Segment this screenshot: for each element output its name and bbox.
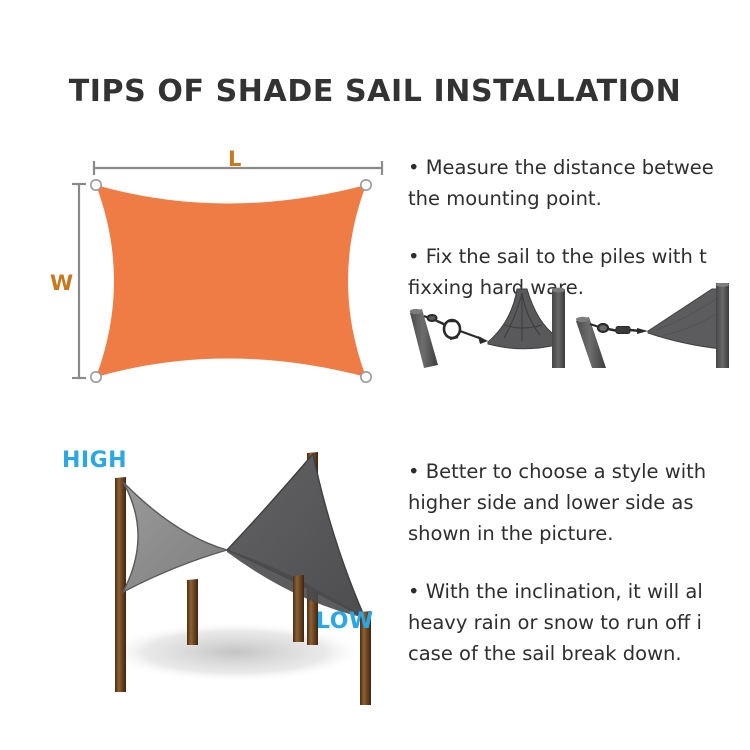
inclined-canopy-diagram bbox=[35, 440, 410, 710]
orange-sail-shape bbox=[96, 185, 366, 377]
tip-4-line-3: case of the sail break down. bbox=[408, 638, 750, 669]
shade-sail-light bbox=[123, 482, 227, 592]
low-side-label: LOW bbox=[316, 609, 374, 634]
tip-4-line-1: • With the inclination, it will al bbox=[408, 576, 750, 607]
tips-spacer-2 bbox=[408, 549, 750, 576]
page-title: TIPS OF SHADE SAIL INSTALLATION bbox=[0, 74, 750, 109]
tip-2-line-1: • Fix the sail to the piles with t bbox=[408, 241, 750, 272]
tip-3-line-2: higher side and lower side as bbox=[408, 487, 750, 518]
length-dimension-label: L bbox=[228, 147, 241, 171]
width-dimension-label: W bbox=[50, 271, 73, 295]
sail-corner-icon bbox=[488, 288, 565, 368]
sail-corner-icon bbox=[648, 283, 729, 368]
top-tips-text: • Measure the distance betwee the mounti… bbox=[408, 152, 750, 303]
tip-3-line-1: • Better to choose a style with bbox=[408, 456, 750, 487]
tip-1-line-2: the mounting point. bbox=[408, 183, 750, 214]
high-side-label: HIGH bbox=[62, 448, 127, 473]
support-post-front-left bbox=[115, 477, 126, 692]
bottom-tips-text: • Better to choose a style with higher s… bbox=[408, 456, 750, 669]
rectangular-sail-diagram bbox=[40, 140, 410, 400]
turnbuckle-icon bbox=[424, 315, 488, 344]
support-post-mid-right bbox=[293, 575, 304, 642]
support-post-mid-left bbox=[187, 579, 198, 645]
tip-4-line-2: heavy rain or snow to run off i bbox=[408, 607, 750, 638]
width-dimension-line bbox=[72, 184, 86, 378]
infographic-page: TIPS OF SHADE SAIL INSTALLATION bbox=[0, 0, 750, 750]
hardware-fixing-illustration-right bbox=[566, 283, 750, 368]
hardware-fixing-illustration-left bbox=[404, 283, 579, 368]
shackle-chain-icon bbox=[590, 324, 648, 334]
tip-1-line-1: • Measure the distance betwee bbox=[408, 152, 750, 183]
tip-3-line-3: shown in the picture. bbox=[408, 518, 750, 549]
tips-spacer bbox=[408, 214, 750, 241]
